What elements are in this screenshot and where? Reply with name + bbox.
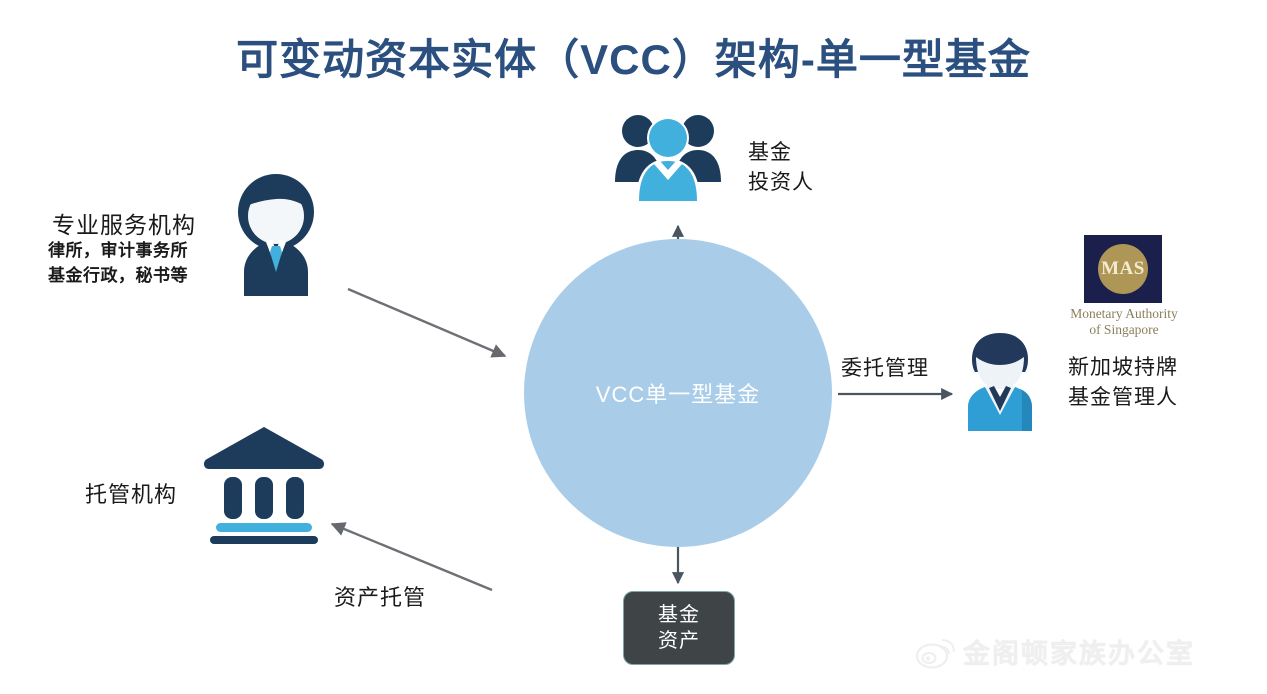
mas-logo-caption: Monetary Authority of Singapore bbox=[1048, 306, 1200, 338]
professional-services-title: 专业服务机构 bbox=[52, 206, 196, 240]
fund-manager-label: 新加坡持牌 基金管理人 bbox=[1068, 353, 1178, 413]
vcc-fund-circle: VCC单一型基金 bbox=[524, 239, 832, 547]
investors-label: 基金 投资人 bbox=[748, 138, 814, 198]
mas-logo-icon: MAS bbox=[1084, 235, 1162, 303]
fund-assets-label: 基金 资产 bbox=[658, 602, 700, 654]
watermark: 金阁顿家族办公室 bbox=[915, 632, 1195, 671]
delegate-management-label: 委托管理 bbox=[841, 352, 929, 382]
fund-manager-person-icon bbox=[958, 331, 1042, 431]
arrow-from-professional-services bbox=[348, 289, 505, 356]
professional-services-subtitle: 律所，审计事务所 基金行政，秘书等 bbox=[48, 238, 188, 288]
bank-icon bbox=[203, 425, 325, 543]
vcc-fund-label: VCC单一型基金 bbox=[596, 377, 760, 409]
people-group-icon bbox=[614, 104, 722, 208]
fund-assets-box: 基金 资产 bbox=[623, 591, 735, 665]
weibo-icon bbox=[915, 635, 955, 669]
mas-logo-disc: MAS bbox=[1098, 244, 1148, 294]
slide-canvas: 可变动资本实体（VCC）架构-单一型基金 VCC单一型基金 bbox=[0, 0, 1267, 694]
businessman-icon bbox=[218, 168, 334, 296]
asset-custody-label: 资产托管 bbox=[334, 580, 426, 612]
custodian-label: 托管机构 bbox=[85, 477, 177, 509]
mas-logo-text: MAS bbox=[1101, 258, 1145, 280]
watermark-text: 金阁顿家族办公室 bbox=[963, 632, 1195, 671]
